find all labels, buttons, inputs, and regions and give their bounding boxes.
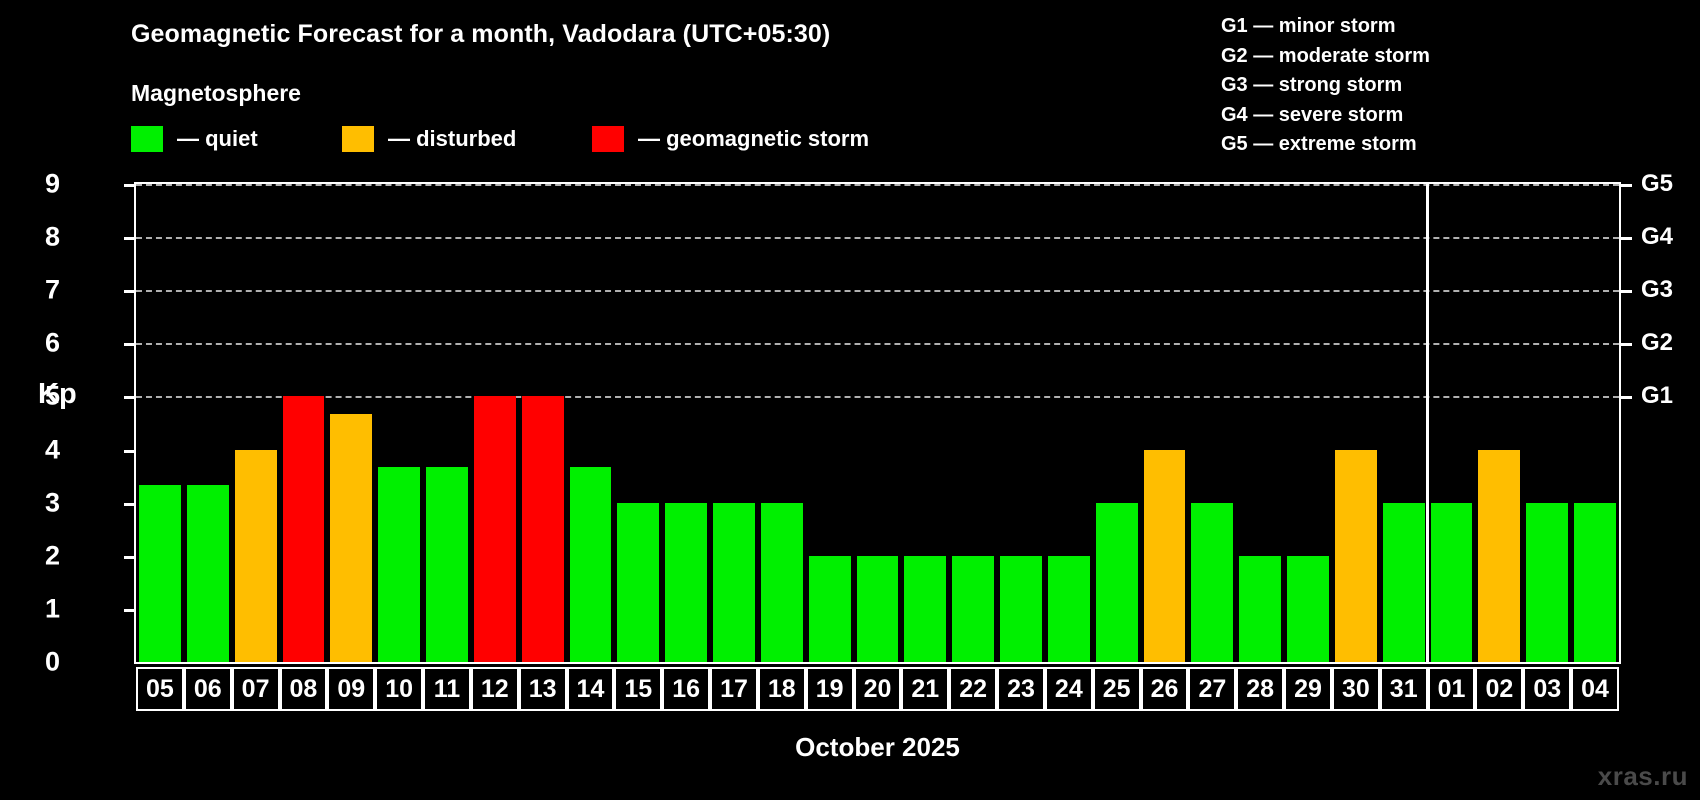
g-scale-line-3: G3 — strong storm xyxy=(1221,71,1551,101)
bar-day-19[interactable] xyxy=(809,556,851,662)
legend-item-quiet: — quiet xyxy=(131,125,258,153)
y-tick-mark-5 xyxy=(124,396,135,399)
bar-day-05[interactable] xyxy=(139,485,181,662)
legend-item-storm: — geomagnetic storm xyxy=(592,125,869,153)
y-tick-label-9: 9 xyxy=(20,169,60,200)
date-label-23[interactable]: 23 xyxy=(997,667,1045,711)
gridline-kp-9 xyxy=(136,184,1619,186)
y-tick-mark-9 xyxy=(124,184,135,187)
bar-day-06[interactable] xyxy=(187,485,229,662)
bar-day-24[interactable] xyxy=(1048,556,1090,662)
bar-day-04[interactable] xyxy=(1574,503,1616,662)
bar-day-08[interactable] xyxy=(283,396,325,662)
date-label-24[interactable]: 24 xyxy=(1045,667,1093,711)
date-label-09[interactable]: 09 xyxy=(327,667,375,711)
bar-day-16[interactable] xyxy=(665,503,707,662)
date-label-14[interactable]: 14 xyxy=(567,667,615,711)
bar-day-12[interactable] xyxy=(474,396,516,662)
watermark: xras.ru xyxy=(1598,761,1688,792)
bar-day-28[interactable] xyxy=(1239,556,1281,662)
bar-day-25[interactable] xyxy=(1096,503,1138,662)
y-tick-label-1: 1 xyxy=(20,593,60,624)
y-tick-label-8: 8 xyxy=(20,222,60,253)
legend-label-disturbed: — disturbed xyxy=(388,126,516,152)
date-label-26[interactable]: 26 xyxy=(1141,667,1189,711)
date-label-21[interactable]: 21 xyxy=(901,667,949,711)
page-title: Geomagnetic Forecast for a month, Vadoda… xyxy=(131,20,830,49)
bar-day-09[interactable] xyxy=(330,414,372,662)
date-label-12[interactable]: 12 xyxy=(471,667,519,711)
bar-day-17[interactable] xyxy=(713,503,755,662)
magnetosphere-heading: Magnetosphere xyxy=(131,80,301,107)
y-tick-label-6: 6 xyxy=(20,328,60,359)
legend-item-disturbed: — disturbed xyxy=(342,125,516,153)
g-tick-mark-G4 xyxy=(1621,237,1632,240)
date-label-02[interactable]: 02 xyxy=(1475,667,1523,711)
bar-day-30[interactable] xyxy=(1335,450,1377,662)
bar-day-14[interactable] xyxy=(570,467,612,662)
date-label-30[interactable]: 30 xyxy=(1332,667,1380,711)
g-tick-mark-G1 xyxy=(1621,396,1632,399)
date-label-03[interactable]: 03 xyxy=(1523,667,1571,711)
y-tick-mark-8 xyxy=(124,237,135,240)
g-tick-label-G5: G5 xyxy=(1641,170,1673,198)
legend-swatch-quiet-icon xyxy=(131,126,163,152)
date-label-19[interactable]: 19 xyxy=(806,667,854,711)
bar-day-13[interactable] xyxy=(522,396,564,662)
legend-label-storm: — geomagnetic storm xyxy=(638,126,869,152)
g-tick-label-G1: G1 xyxy=(1641,382,1673,410)
bar-day-07[interactable] xyxy=(235,450,277,662)
bar-day-15[interactable] xyxy=(617,503,659,662)
y-tick-mark-7 xyxy=(124,290,135,293)
date-label-22[interactable]: 22 xyxy=(949,667,997,711)
legend-label-quiet: — quiet xyxy=(177,126,258,152)
bar-day-10[interactable] xyxy=(378,467,420,662)
g-tick-label-G2: G2 xyxy=(1641,329,1673,357)
g-scale-line-4: G4 — severe storm xyxy=(1221,101,1551,131)
bar-day-23[interactable] xyxy=(1000,556,1042,662)
date-label-28[interactable]: 28 xyxy=(1236,667,1284,711)
bar-day-29[interactable] xyxy=(1287,556,1329,662)
y-tick-mark-6 xyxy=(124,343,135,346)
y-tick-label-0: 0 xyxy=(20,647,60,678)
g-scale-line-5: G5 — extreme storm xyxy=(1221,130,1551,160)
date-label-10[interactable]: 10 xyxy=(375,667,423,711)
date-label-13[interactable]: 13 xyxy=(519,667,567,711)
g-tick-label-G3: G3 xyxy=(1641,276,1673,304)
date-label-15[interactable]: 15 xyxy=(614,667,662,711)
gridline-kp-6 xyxy=(136,343,1619,345)
bar-day-02[interactable] xyxy=(1478,450,1520,662)
month-footer-label: October 2025 xyxy=(134,732,1621,763)
legend-swatch-disturbed-icon xyxy=(342,126,374,152)
y-tick-mark-2 xyxy=(124,556,135,559)
date-label-08[interactable]: 08 xyxy=(280,667,328,711)
date-label-17[interactable]: 17 xyxy=(710,667,758,711)
g-scale-line-2: G2 — moderate storm xyxy=(1221,42,1551,72)
chart-plot-area xyxy=(134,182,1621,664)
bar-day-31[interactable] xyxy=(1383,503,1425,662)
y-tick-mark-1 xyxy=(124,609,135,612)
date-label-31[interactable]: 31 xyxy=(1380,667,1428,711)
g-tick-mark-G2 xyxy=(1621,343,1632,346)
gridline-kp-5 xyxy=(136,396,1619,398)
legend-swatch-storm-icon xyxy=(592,126,624,152)
date-label-27[interactable]: 27 xyxy=(1188,667,1236,711)
y-tick-mark-4 xyxy=(124,450,135,453)
date-label-20[interactable]: 20 xyxy=(854,667,902,711)
date-label-16[interactable]: 16 xyxy=(662,667,710,711)
bar-day-03[interactable] xyxy=(1526,503,1568,662)
chart-plot-inner xyxy=(136,184,1619,662)
bar-day-01[interactable] xyxy=(1431,503,1473,662)
g-scale-line-1: G1 — minor storm xyxy=(1221,12,1551,42)
gridline-kp-8 xyxy=(136,237,1619,239)
date-axis: 0506070809101112131415161718192021222324… xyxy=(136,667,1619,711)
bar-day-20[interactable] xyxy=(857,556,899,662)
bar-day-18[interactable] xyxy=(761,503,803,662)
y-tick-label-4: 4 xyxy=(20,434,60,465)
date-label-07[interactable]: 07 xyxy=(232,667,280,711)
gridline-kp-7 xyxy=(136,290,1619,292)
y-tick-label-2: 2 xyxy=(20,540,60,571)
g-tick-mark-G5 xyxy=(1621,184,1632,187)
date-label-01[interactable]: 01 xyxy=(1428,667,1476,711)
y-tick-mark-3 xyxy=(124,503,135,506)
g-tick-label-G4: G4 xyxy=(1641,223,1673,251)
y-axis-label: Kp xyxy=(38,378,77,411)
g-scale-legend: G1 — minor stormG2 — moderate stormG3 — … xyxy=(1221,12,1551,160)
g-tick-mark-G3 xyxy=(1621,290,1632,293)
date-label-11[interactable]: 11 xyxy=(423,667,471,711)
bar-day-26[interactable] xyxy=(1144,450,1186,662)
date-label-06[interactable]: 06 xyxy=(184,667,232,711)
date-label-04[interactable]: 04 xyxy=(1571,667,1619,711)
date-label-25[interactable]: 25 xyxy=(1093,667,1141,711)
month-divider-line xyxy=(1426,184,1429,662)
y-tick-label-3: 3 xyxy=(20,487,60,518)
bar-day-21[interactable] xyxy=(904,556,946,662)
date-label-29[interactable]: 29 xyxy=(1284,667,1332,711)
bar-day-27[interactable] xyxy=(1191,503,1233,662)
y-tick-label-7: 7 xyxy=(20,275,60,306)
bar-day-22[interactable] xyxy=(952,556,994,662)
date-label-18[interactable]: 18 xyxy=(758,667,806,711)
date-label-05[interactable]: 05 xyxy=(136,667,184,711)
bar-day-11[interactable] xyxy=(426,467,468,662)
